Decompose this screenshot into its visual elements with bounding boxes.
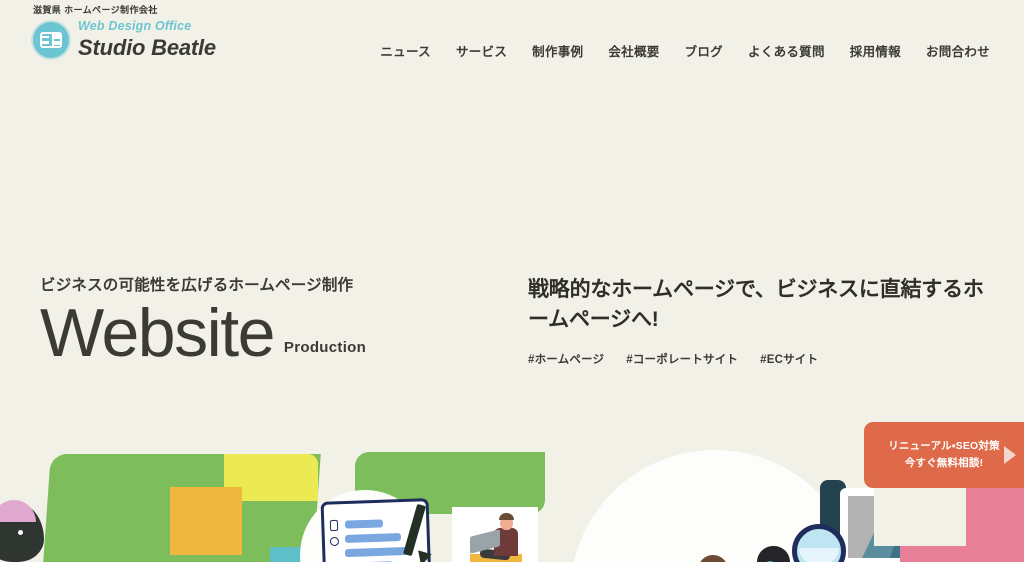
cta-line-2: 今すぐ無料相談! (905, 458, 984, 470)
main-navigation: ニュース サービス 制作事例 会社概要 ブログ よくある質問 採用情報 お問合わ… (380, 41, 990, 60)
studio-beatle-logo-icon (33, 22, 69, 58)
illustration-person-hair-icon (499, 513, 514, 520)
illustration-magnifier-gloss-icon (799, 548, 839, 562)
nav-item-recruit[interactable]: 採用情報 (850, 41, 901, 60)
hero-left-text: ビジネスの可能性を広げるホームページ制作 Website Production (40, 277, 366, 369)
illustration-yellow-square-icon (170, 487, 242, 555)
free-consultation-cta-button[interactable]: リニューアル・SEO対策 今すぐ無料相談! (864, 422, 1024, 488)
hero-kicker: ビジネスの可能性を広げるホームページ制作 (40, 277, 366, 296)
nav-item-news[interactable]: ニュース (380, 41, 431, 60)
brand-name: Studio Beatle (78, 35, 216, 60)
hero-tag-homepage[interactable]: #ホームページ (528, 351, 604, 367)
nav-item-company[interactable]: 会社概要 (608, 41, 659, 60)
hero-tag-list: #ホームページ #コーポレートサイト #ECサイト (528, 351, 998, 367)
cta-line-1: リニューアル・SEO対策 (888, 441, 1000, 453)
nav-item-works[interactable]: 制作事例 (532, 41, 583, 60)
hero-tag-ec[interactable]: #ECサイト (760, 351, 818, 367)
nav-item-faq[interactable]: よくある質問 (748, 41, 825, 60)
homepage-hero: 滋賀県 ホームページ制作会社 Web Design Office Studio … (0, 0, 1024, 562)
hero-title-sub: Production (284, 339, 366, 369)
illustration-cream-overlay-icon (874, 484, 966, 546)
nav-item-blog[interactable]: ブログ (685, 41, 723, 60)
brand-logo[interactable]: 滋賀県 ホームページ制作会社 Web Design Office Studio … (33, 5, 216, 60)
nav-item-service[interactable]: サービス (456, 41, 507, 60)
illustration-left-blob-dot-icon (18, 530, 23, 535)
illustration-tablet-icon-1 (330, 520, 338, 531)
hero-tag-corporate[interactable]: #コーポレートサイト (626, 351, 738, 367)
illustration-left-blob-top-icon (0, 500, 36, 522)
site-header: 滋賀県 ホームページ制作会社 Web Design Office Studio … (0, 0, 1024, 82)
illustration-tablet-line-1 (345, 519, 383, 528)
chevron-right-icon (1004, 446, 1016, 464)
nav-item-contact[interactable]: お問合わせ (926, 41, 990, 60)
hero-lead: 戦略的なホームページで、ビジネスに直結するホームページへ! (528, 275, 998, 335)
brand-subtitle: Web Design Office (78, 20, 216, 34)
hero-title: Website (40, 298, 274, 369)
brand-tagline: 滋賀県 ホームページ制作会社 (33, 5, 216, 16)
hero-right-text: 戦略的なホームページで、ビジネスに直結するホームページへ! #ホームページ #コ… (528, 275, 998, 367)
